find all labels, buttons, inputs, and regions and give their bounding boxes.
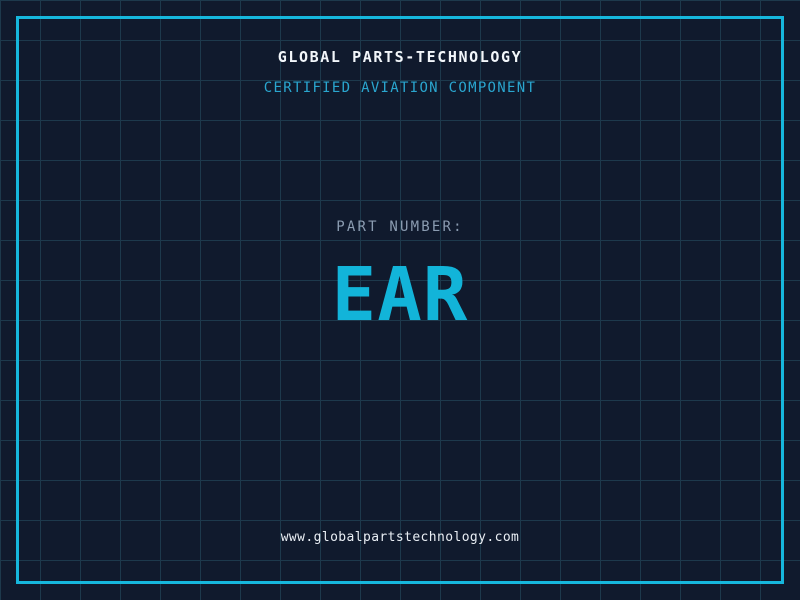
- footer-website-url: www.globalpartstechnology.com: [0, 530, 800, 545]
- blueprint-card: GLOBAL PARTS-TECHNOLOGY CERTIFIED AVIATI…: [0, 0, 800, 600]
- card-content: GLOBAL PARTS-TECHNOLOGY CERTIFIED AVIATI…: [0, 0, 800, 600]
- company-title: GLOBAL PARTS-TECHNOLOGY: [0, 48, 800, 66]
- part-number-label: PART NUMBER:: [0, 219, 800, 235]
- certification-subtitle: CERTIFIED AVIATION COMPONENT: [0, 80, 800, 96]
- part-number-value: EAR: [0, 258, 800, 332]
